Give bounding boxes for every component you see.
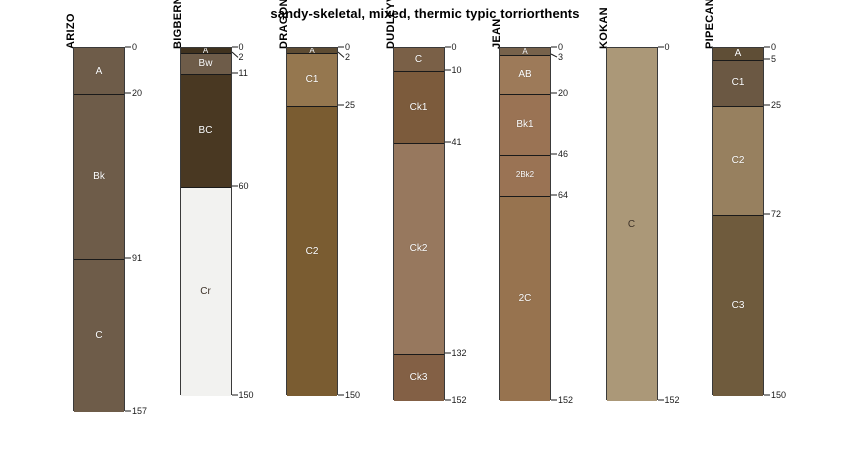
- depth-tick-label: 64: [558, 191, 568, 200]
- horizon-label: C2: [287, 246, 337, 257]
- depth-tick-label: 0: [558, 43, 563, 52]
- depth-tick-label: 25: [345, 101, 355, 110]
- profile-column[interactable]: C: [606, 47, 658, 400]
- depth-tick-label: 0: [132, 43, 137, 52]
- depth-tick-label: 20: [558, 89, 568, 98]
- horizon-label: C1: [713, 77, 763, 88]
- depth-tick-label: 150: [239, 391, 254, 400]
- horizon-label: C3: [713, 300, 763, 311]
- horizon-boundary: [181, 187, 231, 188]
- horizon-label: A: [713, 48, 763, 59]
- horizon-segment[interactable]: C3: [713, 215, 763, 396]
- horizon-boundary: [74, 259, 124, 260]
- horizon-boundary: [74, 94, 124, 95]
- profile-name-label: BIGBERNIE: [172, 0, 184, 49]
- horizon-segment[interactable]: 2C: [500, 196, 550, 400]
- horizon-segment[interactable]: C: [394, 48, 444, 71]
- profile-name-label: DRAGONWASH: [278, 0, 290, 49]
- horizon-label: C1: [287, 74, 337, 85]
- profile-name-label: PIPECAN: [704, 0, 716, 49]
- horizon-label: Bk1: [500, 119, 550, 130]
- horizon-segment[interactable]: Ck1: [394, 71, 444, 143]
- profile-name-label: ARIZO: [65, 13, 77, 49]
- horizon-segment[interactable]: C2: [713, 106, 763, 215]
- profile-name-label: DUDLEYVILLE: [385, 0, 397, 49]
- depth-tick-label: 132: [452, 349, 467, 358]
- depth-tick-label: 91: [132, 254, 142, 263]
- depth-tick-label: 46: [558, 150, 568, 159]
- profile-name-label: KOKAN: [598, 7, 610, 49]
- depth-tick-label: 152: [452, 396, 467, 405]
- depth-tick-label: 3: [558, 53, 563, 62]
- horizon-segment[interactable]: Bk1: [500, 94, 550, 154]
- horizon-boundary: [500, 155, 550, 156]
- depth-tick-label: 150: [771, 391, 786, 400]
- horizon-segment[interactable]: A: [74, 48, 124, 94]
- horizon-segment[interactable]: C1: [287, 53, 337, 106]
- soil-profile-chart: sandy-skeletal, mixed, thermic typic tor…: [0, 0, 850, 450]
- depth-tick-label: 20: [132, 89, 142, 98]
- horizon-segment[interactable]: A: [713, 48, 763, 60]
- horizon-boundary: [500, 55, 550, 56]
- profile-column[interactable]: ABkC: [73, 47, 125, 411]
- horizon-label: A: [500, 48, 550, 55]
- depth-tick-label: 2: [239, 53, 244, 62]
- horizon-label: Ck3: [394, 372, 444, 383]
- depth-tick-label: 0: [665, 43, 670, 52]
- depth-tick-label: 60: [239, 182, 249, 191]
- horizon-boundary: [500, 196, 550, 197]
- depth-tick-label: 11: [239, 69, 248, 78]
- horizon-label: A: [74, 66, 124, 77]
- chart-title: sandy-skeletal, mixed, thermic typic tor…: [0, 6, 850, 21]
- profile-column[interactable]: ABwBCCr: [180, 47, 232, 395]
- depth-tick-label: 0: [452, 43, 457, 52]
- horizon-label: C: [607, 219, 657, 230]
- horizon-label: Bw: [181, 58, 231, 69]
- horizon-label: 2Bk2: [500, 170, 550, 179]
- depth-tick-label: 0: [771, 43, 776, 52]
- horizon-label: BC: [181, 125, 231, 136]
- profile-name-label: JEAN: [491, 18, 503, 49]
- horizon-label: C: [74, 330, 124, 341]
- depth-tick-label: 152: [558, 396, 573, 405]
- horizon-segment[interactable]: Ck2: [394, 143, 444, 354]
- depth-tick-label: 10: [452, 66, 462, 75]
- profile-column[interactable]: AC1C2C3: [712, 47, 764, 395]
- horizon-boundary: [394, 143, 444, 144]
- depth-tick-label: 5: [771, 55, 776, 64]
- horizon-segment[interactable]: A: [500, 48, 550, 55]
- horizon-boundary: [394, 71, 444, 72]
- horizon-boundary: [287, 106, 337, 107]
- depth-tick-label: 72: [771, 210, 781, 219]
- profile-column[interactable]: AC1C2: [286, 47, 338, 395]
- horizon-segment[interactable]: C1: [713, 60, 763, 106]
- horizon-boundary: [500, 94, 550, 95]
- horizon-boundary: [713, 60, 763, 61]
- horizon-label: AB: [500, 69, 550, 80]
- depth-tick-label: 157: [132, 407, 147, 416]
- horizon-label: Bk: [74, 171, 124, 182]
- horizon-boundary: [181, 74, 231, 75]
- depth-tick-label: 0: [345, 43, 350, 52]
- horizon-label: Ck1: [394, 102, 444, 113]
- depth-tick-label: 41: [452, 138, 462, 147]
- horizon-segment[interactable]: C: [607, 48, 657, 401]
- horizon-boundary: [713, 215, 763, 216]
- horizon-label: Cr: [181, 286, 231, 297]
- horizon-boundary: [181, 53, 231, 54]
- horizon-segment[interactable]: Bk: [74, 94, 124, 259]
- depth-tick-label: 25: [771, 101, 781, 110]
- depth-tick-label: 2: [345, 53, 350, 62]
- horizon-label: C: [394, 54, 444, 65]
- horizon-segment[interactable]: 2Bk2: [500, 155, 550, 197]
- horizon-boundary: [713, 106, 763, 107]
- horizon-segment[interactable]: Ck3: [394, 354, 444, 400]
- horizon-segment[interactable]: Bw: [181, 53, 231, 74]
- depth-tick-label: 150: [345, 391, 360, 400]
- horizon-segment[interactable]: BC: [181, 74, 231, 188]
- horizon-boundary: [287, 53, 337, 54]
- depth-tick-label: 152: [665, 396, 680, 405]
- horizon-segment[interactable]: AB: [500, 55, 550, 94]
- horizon-segment[interactable]: Cr: [181, 187, 231, 396]
- horizon-boundary: [394, 354, 444, 355]
- depth-tick-label: 0: [239, 43, 244, 52]
- horizon-segment[interactable]: C: [74, 259, 124, 412]
- horizon-label: Ck2: [394, 243, 444, 254]
- profile-column[interactable]: AABBk12Bk22C: [499, 47, 551, 400]
- horizon-label: C2: [713, 155, 763, 166]
- horizon-segment[interactable]: C2: [287, 106, 337, 396]
- profile-column[interactable]: CCk1Ck2Ck3: [393, 47, 445, 400]
- horizon-label: 2C: [500, 293, 550, 304]
